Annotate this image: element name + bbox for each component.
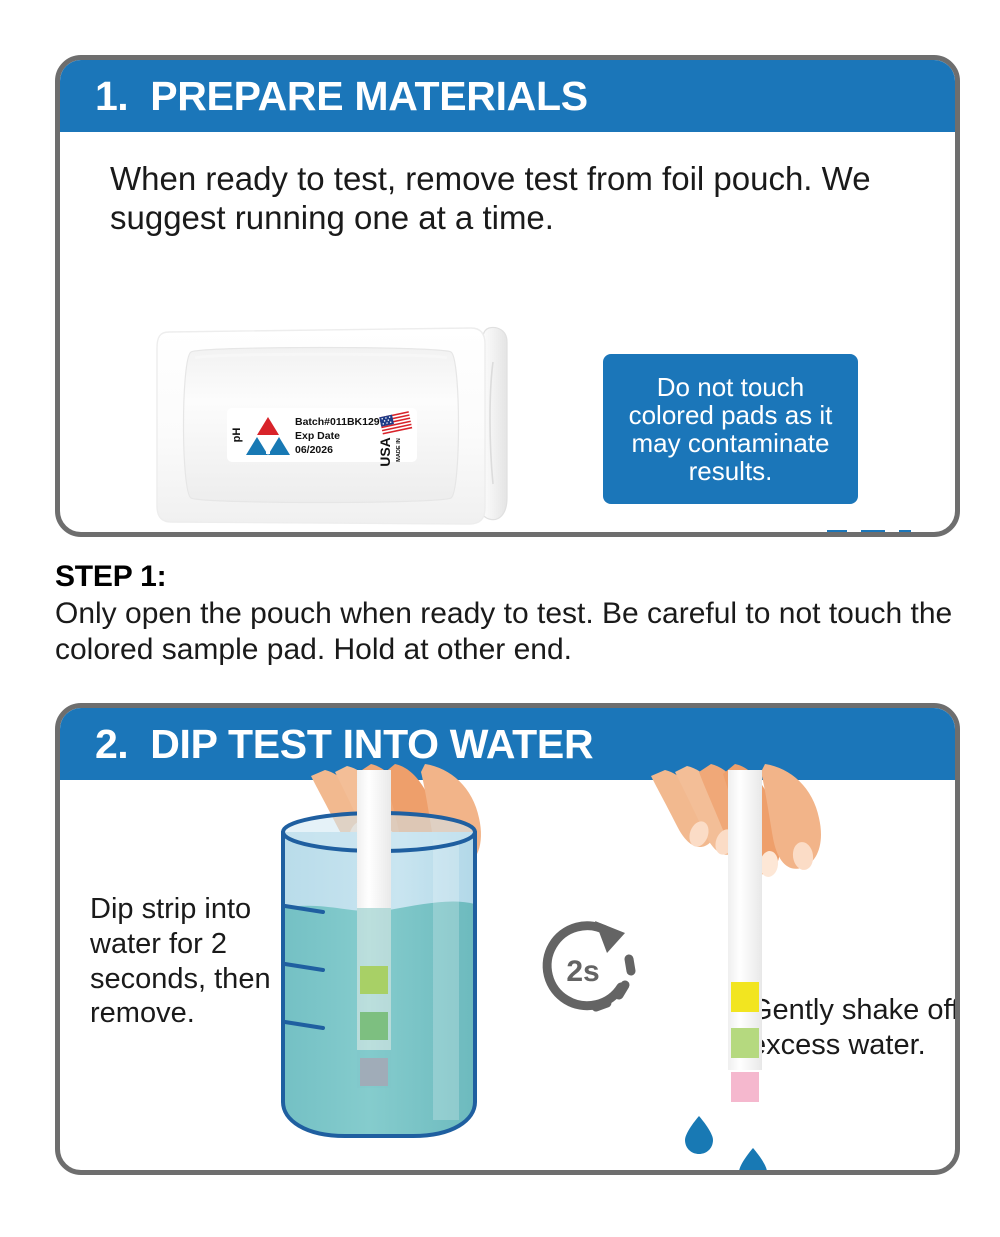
beaker-dipping-scene	[265, 780, 495, 1175]
panel-2-body: Dip strip into water for 2 seconds, then…	[60, 780, 955, 1170]
panel-1-title: PREPARE MATERIALS	[150, 73, 588, 120]
panel-1-header: 1. PREPARE MATERIALS	[60, 60, 955, 132]
wet-pad-1	[731, 982, 759, 1012]
panel-2-header: 2. DIP TEST INTO WATER	[60, 708, 955, 780]
label-exp-label-text: Exp Date	[295, 430, 340, 442]
warning-text: Do not touch colored pads as it may cont…	[613, 373, 848, 485]
shake-off-water-scene	[635, 780, 850, 1175]
panel-prepare-materials: 1. PREPARE MATERIALS When ready to test,…	[55, 55, 960, 537]
foil-pouch-illustration: pH Batch#011BK129 Exp Date 06/2026	[155, 322, 555, 532]
panel-2-title: DIP TEST INTO WATER	[150, 721, 593, 768]
label-batch-text: Batch#011BK129	[295, 416, 380, 428]
step-1-body: Only open the pouch when ready to test. …	[55, 597, 952, 666]
prepare-intro-text: When ready to test, remove test from foi…	[110, 160, 910, 238]
label-analyte-text: pH	[231, 428, 243, 443]
water-droplets	[685, 1116, 767, 1175]
step-1-label: STEP 1:	[55, 560, 965, 594]
panel-1-number: 1.	[95, 73, 128, 120]
badge-origin-line2: USA	[377, 437, 393, 467]
droplet-2	[739, 1148, 767, 1175]
step-1-caption: STEP 1: Only open the pouch when ready t…	[55, 560, 965, 668]
do-not-touch-warning: Do not touch colored pads as it may cont…	[603, 354, 858, 504]
droplet-1	[685, 1116, 713, 1154]
timer-arrowhead	[595, 921, 625, 953]
submerged-test-strip	[357, 770, 391, 1088]
timer-2s-icon: 2s	[533, 915, 648, 1020]
panel-dip-test-into-water: 2. DIP TEST INTO WATER Dip strip into wa…	[55, 703, 960, 1175]
wet-test-strip	[728, 770, 762, 1102]
panel-1-body: When ready to test, remove test from foi…	[60, 132, 955, 532]
test-strip-with-focus	[555, 527, 915, 537]
panel-2-number: 2.	[95, 721, 128, 768]
wet-pad-3	[731, 1072, 759, 1102]
focus-highlight-box	[827, 533, 911, 537]
timer-label-text: 2s	[566, 955, 599, 988]
label-exp-date-text: 06/2026	[295, 444, 333, 456]
wet-pad-2	[731, 1028, 759, 1058]
pouch-label: pH Batch#011BK129 Exp Date 06/2026	[227, 408, 417, 467]
badge-origin-line1: MADE IN	[396, 438, 402, 462]
